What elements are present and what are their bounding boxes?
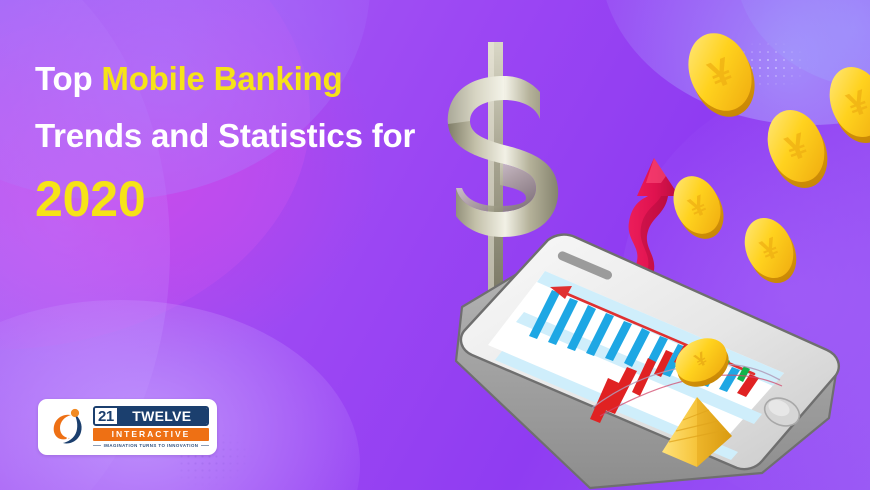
- brand-logo[interactable]: 21 TWELVE INTERACTIVE IMAGINATION TURNS …: [38, 399, 217, 455]
- headline-year: 2020: [35, 174, 455, 224]
- logo-tagline-row: IMAGINATION TURNS TO INNOVATION: [93, 443, 209, 448]
- headline-line-1-accent: Mobile Banking: [101, 60, 342, 97]
- logo-subtitle: INTERACTIVE: [93, 428, 209, 441]
- coin-3: ¥: [665, 169, 733, 247]
- headline-block: Top Mobile Banking Trends and Statistics…: [35, 62, 455, 224]
- coin-5: ¥: [820, 59, 870, 150]
- headline-line-1: Top Mobile Banking: [35, 62, 455, 95]
- logo-number: 21: [95, 408, 117, 424]
- logo-wordmark: 21 TWELVE INTERACTIVE IMAGINATION TURNS …: [93, 406, 209, 448]
- coin-1: ¥: [677, 24, 766, 127]
- headline-line-2: Trends and Statistics for: [35, 119, 455, 152]
- logo-rule-right: [201, 445, 209, 446]
- logo-rule-left: [93, 445, 101, 446]
- 21twelve-swoosh-mark-icon: [44, 404, 90, 450]
- hero-banner: Top Mobile Banking Trends and Statistics…: [0, 0, 870, 490]
- coin-4: ¥: [736, 211, 805, 291]
- smartphone-finance-illustration: ¥ ¥ ¥ ¥: [432, 18, 870, 490]
- logo-primary-row: 21 TWELVE: [93, 406, 209, 426]
- logo-tagline: IMAGINATION TURNS TO INNOVATION: [104, 443, 199, 448]
- coin-2: ¥: [758, 102, 837, 196]
- logo-word: TWELVE: [117, 408, 207, 424]
- falling-gold-coins: ¥ ¥ ¥ ¥: [665, 24, 870, 291]
- headline-line-1-plain: Top: [35, 60, 101, 97]
